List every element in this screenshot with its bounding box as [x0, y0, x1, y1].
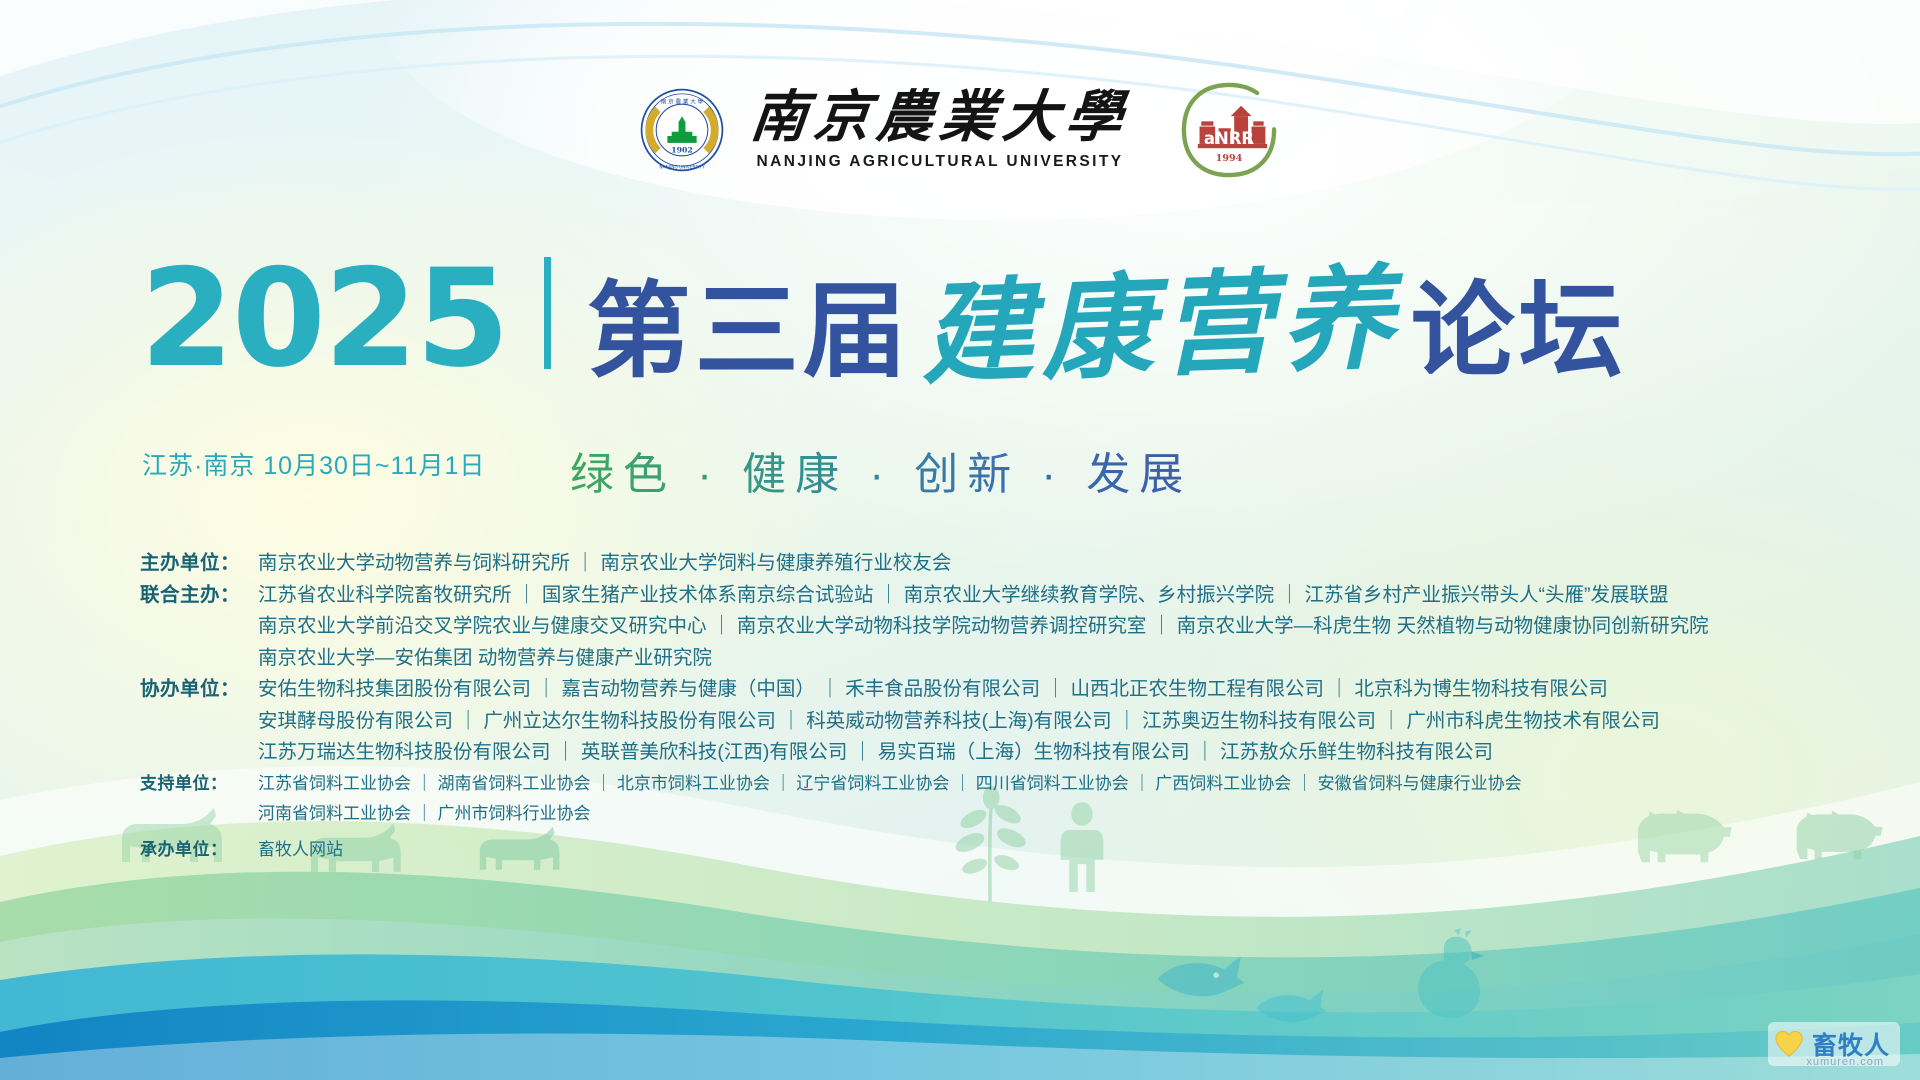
header-logo-group: 1902 南 京 農 業 大 學 NANJING UNIVERSITY 南京農業… [0, 78, 1920, 182]
org-label: 支持单位： [140, 769, 258, 799]
organizations-block: 主办单位： 南京农业大学动物营养与饲料研究所 ｜ 南京农业大学饲料与健康养殖行业… [140, 548, 1860, 865]
org-line: 江苏万瑞达生物科技股份有限公司 ｜ 英联普美欣科技(江西)有限公司 ｜ 易实百瑞… [258, 737, 1860, 769]
title-blue-suffix: 论坛 [1411, 279, 1627, 383]
org-line: 畜牧人网站 [258, 835, 1860, 865]
org-line: 河南省饲料工业协会 ｜ 广州市饲料行业协会 [258, 799, 1860, 829]
nau-wordmark: 南京農業大學 NANJING AGRICULTURAL UNIVERSITY [751, 89, 1129, 171]
svg-text:aNRR: aNRR [1204, 129, 1255, 148]
title-brush-text: 建康营养 [919, 263, 1403, 392]
svg-text:NANJING UNIVERSITY: NANJING UNIVERSITY [659, 165, 705, 171]
org-values: 畜牧人网站 [258, 835, 1860, 865]
svg-text:1994: 1994 [1216, 153, 1243, 164]
org-line: 安佑生物科技集团股份有限公司 ｜ 嘉吉动物营养与健康（中国） ｜ 禾丰食品股份有… [258, 674, 1860, 706]
svg-text:1902: 1902 [671, 145, 693, 154]
org-row-organizer: 承办单位： 畜牧人网站 [140, 835, 1860, 865]
org-row-host: 主办单位： 南京农业大学动物营养与饲料研究所 ｜ 南京农业大学饲料与健康养殖行业… [140, 548, 1860, 580]
org-row-coorganizer: 协办单位： 安佑生物科技集团股份有限公司 ｜ 嘉吉动物营养与健康（中国） ｜ 禾… [140, 674, 1860, 769]
chicken-silhouette [1400, 926, 1492, 1022]
org-label: 承办单位： [140, 835, 258, 865]
anrr-logo-icon: aNRR 1994 [1177, 78, 1281, 182]
university-name-en: NANJING AGRICULTURAL UNIVERSITY [757, 153, 1124, 171]
title-blue-prefix: 第三届 [587, 279, 911, 383]
org-line: 南京农业大学—安佑集团 动物营养与健康产业研究院 [258, 643, 1860, 675]
org-line: 江苏省农业科学院畜牧研究所 ｜ 国家生猪产业技术体系南京综合试验站 ｜ 南京农业… [258, 580, 1860, 612]
org-label: 协办单位： [140, 674, 258, 706]
poster-canvas: 1902 南 京 農 業 大 學 NANJING UNIVERSITY 南京農業… [0, 0, 1920, 1080]
org-label: 联合主办： [140, 580, 258, 612]
event-slogan: 绿色 · 健康 · 创新 · 发展 [570, 438, 1192, 502]
event-date-location: 江苏·南京 10月30日~11月1日 [142, 446, 485, 482]
org-row-cohost: 联合主办： 江苏省农业科学院畜牧研究所 ｜ 国家生猪产业技术体系南京综合试验站 … [140, 580, 1860, 675]
fish-silhouette [1250, 984, 1334, 1032]
org-line: 江苏省饲料工业协会 ｜ 湖南省饲料工业协会 ｜ 北京市饲料工业协会 ｜ 辽宁省饲… [258, 769, 1860, 799]
title-year: 2025 [140, 255, 508, 383]
org-line: 南京农业大学前沿交叉学院农业与健康交叉研究中心 ｜ 南京农业大学动物科技学院动物… [258, 611, 1860, 643]
org-values: 安佑生物科技集团股份有限公司 ｜ 嘉吉动物营养与健康（中国） ｜ 禾丰食品股份有… [258, 674, 1860, 769]
org-values: 江苏省饲料工业协会 ｜ 湖南省饲料工业协会 ｜ 北京市饲料工业协会 ｜ 辽宁省饲… [258, 769, 1860, 829]
org-line: 南京农业大学动物营养与饲料研究所 ｜ 南京农业大学饲料与健康养殖行业校友会 [258, 548, 1860, 580]
org-row-support: 支持单位： 江苏省饲料工业协会 ｜ 湖南省饲料工业协会 ｜ 北京市饲料工业协会 … [140, 769, 1860, 829]
org-values: 江苏省农业科学院畜牧研究所 ｜ 国家生猪产业技术体系南京综合试验站 ｜ 南京农业… [258, 580, 1860, 675]
university-name-cn: 南京農業大學 [748, 89, 1132, 145]
svg-text:南 京 農 業 大 學: 南 京 農 業 大 學 [661, 97, 704, 105]
org-label: 主办单位： [140, 548, 258, 580]
fish-silhouette [1150, 950, 1254, 1008]
heart-icon [1774, 1030, 1804, 1058]
main-title: 2025 第三届 建康营养 论坛 [140, 255, 1820, 383]
nau-seal-icon: 1902 南 京 農 業 大 學 NANJING UNIVERSITY [639, 87, 725, 173]
watermark-sub: xumuren.com [1806, 1056, 1884, 1068]
title-divider [544, 257, 551, 369]
org-line: 安琪酵母股份有限公司 ｜ 广州立达尔生物科技股份有限公司 ｜ 科英威动物营养科技… [258, 706, 1860, 738]
org-values: 南京农业大学动物营养与饲料研究所 ｜ 南京农业大学饲料与健康养殖行业校友会 [258, 548, 1860, 580]
watermark-badge: 畜牧人 xumuren.com [1768, 1022, 1900, 1066]
